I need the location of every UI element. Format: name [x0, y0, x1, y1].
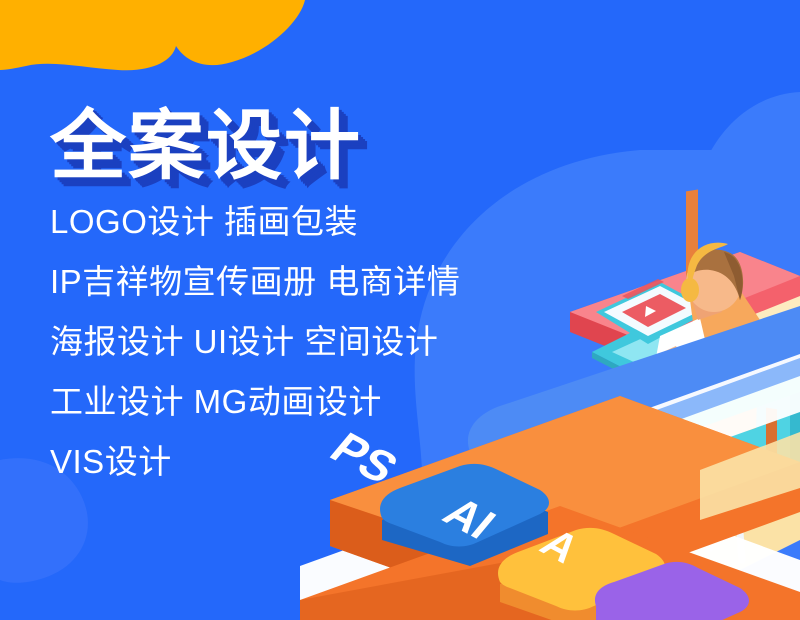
promo-banner: PS AI A 全案设计 LOGO设计 插画包装 IP吉祥物宣传画册 电商详情 …: [0, 0, 800, 620]
app-tiles-platform: PS AI A: [0, 0, 800, 620]
